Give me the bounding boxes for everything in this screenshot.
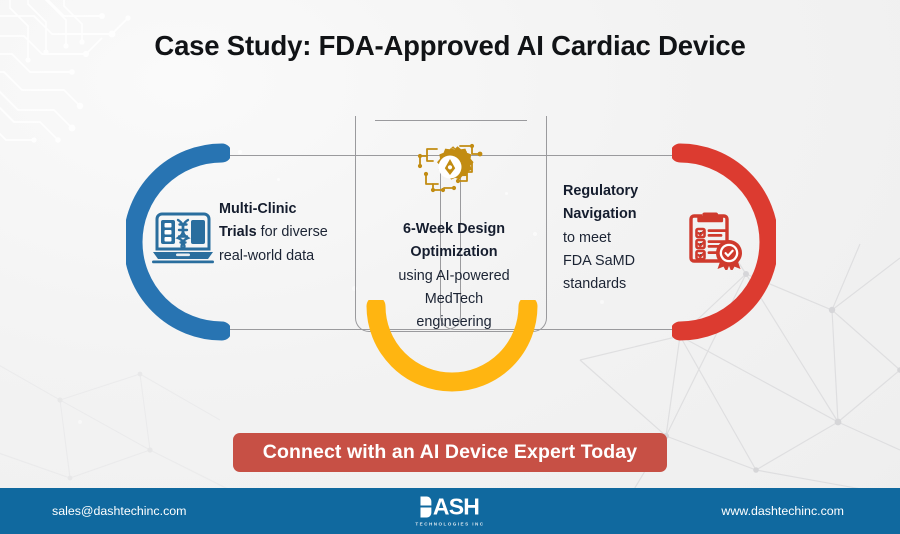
dash-logo-mark-icon — [421, 497, 432, 518]
gear-circuit-pen-icon — [414, 140, 486, 196]
sparkle-dot — [277, 178, 280, 181]
step-line3-right: to meet — [563, 227, 689, 250]
footer-email-link[interactable]: sales@dashtechinc.com — [52, 504, 186, 518]
dash-logo-wordmark: ASH — [421, 496, 479, 519]
step-bold-left: Trials — [219, 224, 257, 240]
step-bold-mid: Optimization — [410, 244, 497, 260]
sparkle-dot — [533, 232, 537, 236]
dash-logo-text: ASH — [433, 496, 479, 519]
laptop-dna-icon — [152, 208, 214, 264]
page-title: Case Study: FDA-Approved AI Cardiac Devi… — [0, 30, 900, 62]
sparkle-dot — [78, 420, 82, 424]
step-line3-mid: using AI-powered — [378, 265, 530, 288]
step-line5-mid: engineering — [378, 311, 530, 334]
infographic-canvas: Case Study: FDA-Approved AI Cardiac Devi… — [0, 0, 900, 534]
step-heading2-right: Navigation — [563, 206, 637, 222]
dash-logo: ASH TECHNOLOGIES INC — [415, 496, 484, 527]
card-outline-middle-top-rule — [375, 120, 527, 121]
sparkle-dot — [505, 192, 508, 195]
dash-logo-tagline: TECHNOLOGIES INC — [415, 522, 484, 527]
footer-website-link[interactable]: www.dashtechinc.com — [721, 504, 844, 518]
sparkle-dot — [600, 300, 604, 304]
step-heading-right: Regulatory — [563, 183, 638, 199]
cta-button[interactable]: Connect with an AI Device Expert Today — [233, 433, 667, 472]
sparkle-dot — [352, 286, 357, 291]
step-line2-left: for diverse — [257, 224, 328, 240]
step-line4-mid: MedTech — [378, 288, 530, 311]
step-text-regulatory-navigation: Regulatory Navigation to meet FDA SaMD s… — [563, 180, 689, 297]
step-line4-right: FDA SaMD — [563, 250, 689, 273]
step-line3-left: real-world data — [219, 245, 365, 268]
step-text-multi-clinic-trials: Multi-Clinic Trials for diverse real-wor… — [219, 198, 365, 268]
sparkle-dot — [238, 150, 242, 154]
step-line5-right: standards — [563, 273, 689, 296]
step-text-design-optimization: 6-Week Design Optimization using AI-powe… — [378, 218, 530, 335]
clipboard-certificate-icon — [684, 208, 746, 270]
step-heading-mid: 6-Week Design — [403, 221, 505, 237]
step-heading-left: Multi-Clinic — [219, 201, 297, 217]
footer-bar: sales@dashtechinc.com ASH TECHNOLOGIES I… — [0, 488, 900, 534]
